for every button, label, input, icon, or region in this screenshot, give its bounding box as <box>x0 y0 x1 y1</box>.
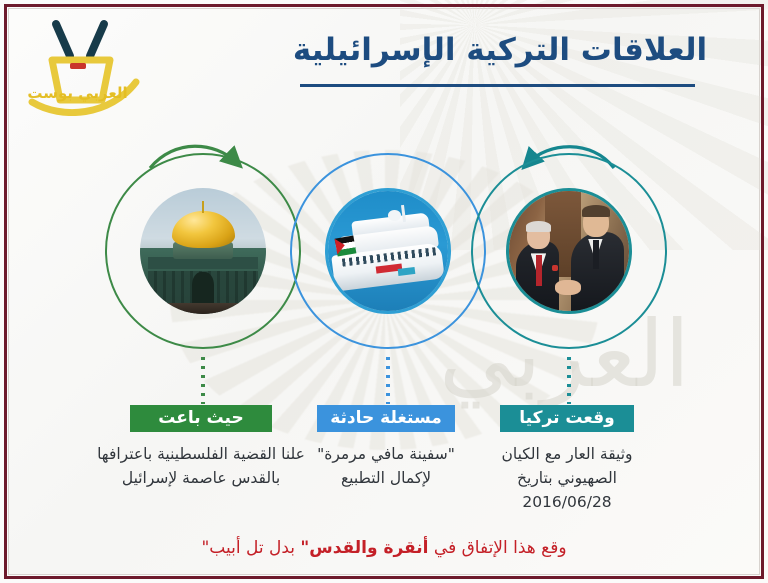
infographic-canvas: العربي العربي بوست العلاقات التركية الإس… <box>0 0 768 583</box>
outer-frame <box>4 4 764 579</box>
